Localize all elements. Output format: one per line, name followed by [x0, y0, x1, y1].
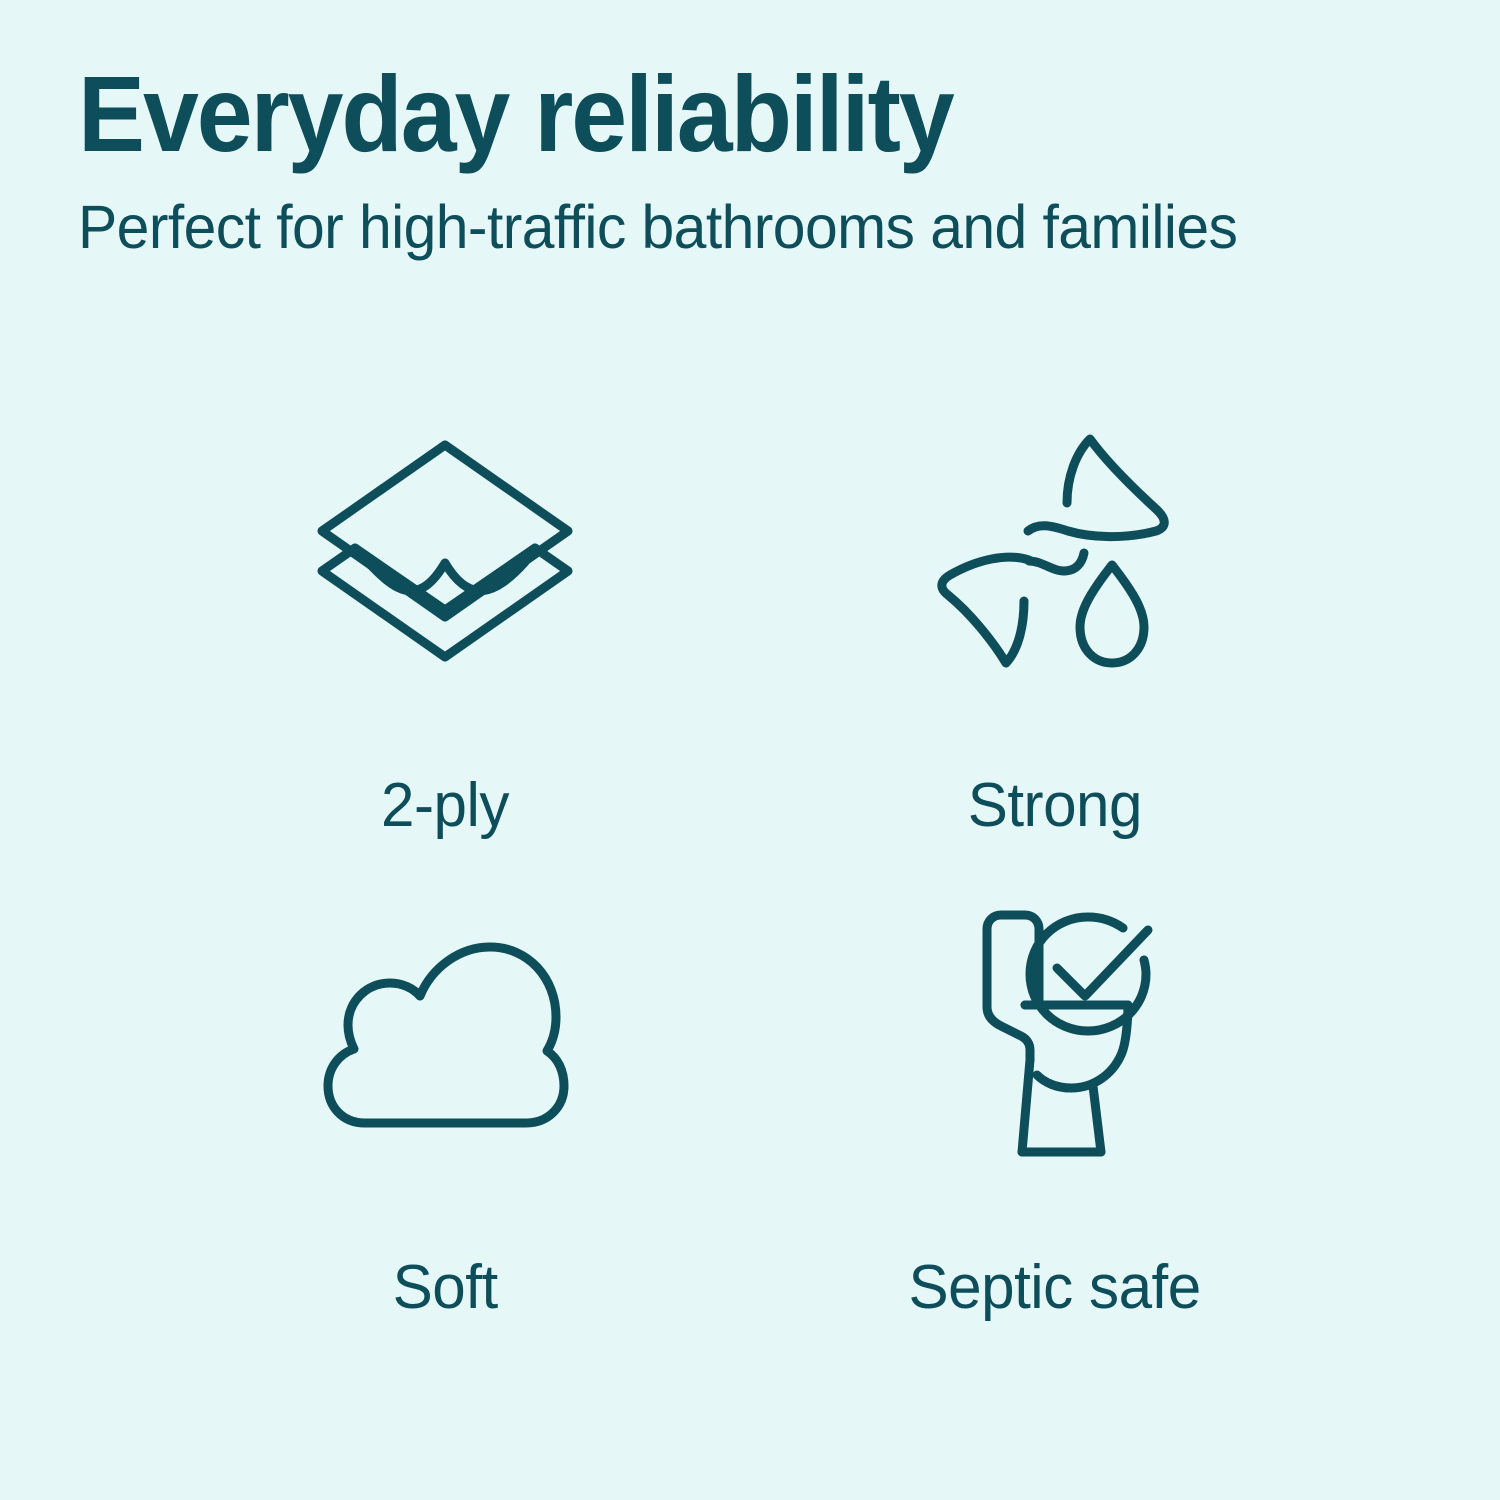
header: Everyday reliability Perfect for high-tr…: [78, 58, 1418, 262]
page-title: Everyday reliability: [78, 58, 1324, 170]
feature-label-septic-safe: Septic safe: [909, 1252, 1201, 1324]
feature-item-strong: Strong: [750, 420, 1360, 900]
feature-item-two-ply: 2-ply: [140, 420, 750, 900]
wet-strength-icon: [930, 420, 1180, 680]
product-feature-card: Everyday reliability Perfect for high-tr…: [0, 0, 1500, 1500]
feature-label-two-ply: 2-ply: [381, 770, 509, 842]
feature-label-soft: Soft: [392, 1252, 497, 1324]
feature-item-soft: Soft: [140, 900, 750, 1380]
layers-icon: [310, 420, 580, 680]
toilet-check-icon: [943, 900, 1168, 1170]
page-subtitle: Perfect for high-traffic bathrooms and f…: [78, 170, 1371, 262]
feature-grid: 2-ply Strong: [140, 420, 1360, 1380]
cloud-icon: [320, 900, 570, 1170]
feature-label-strong: Strong: [968, 770, 1142, 842]
feature-item-septic-safe: Septic safe: [750, 900, 1360, 1380]
